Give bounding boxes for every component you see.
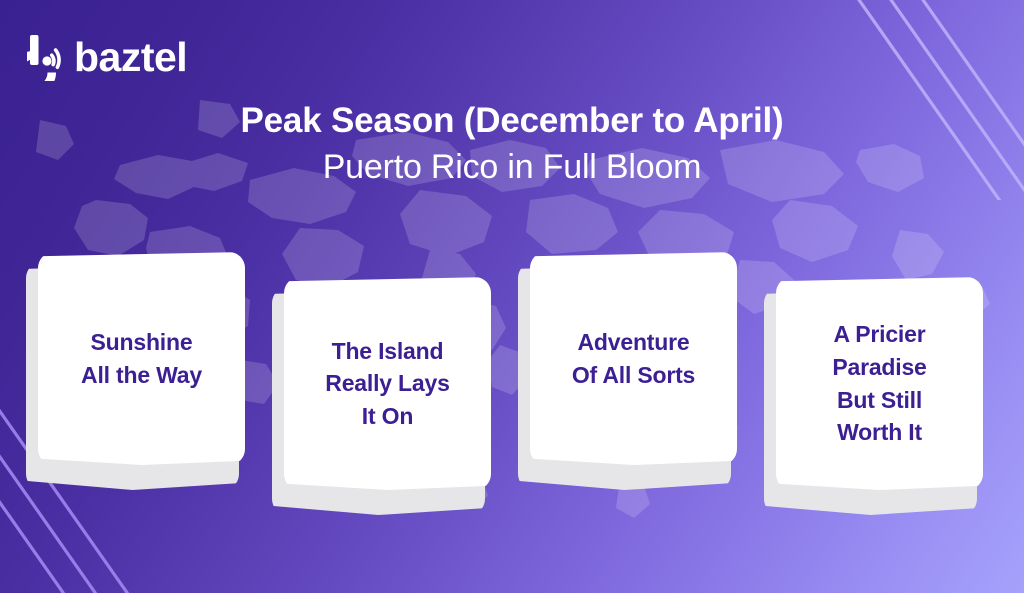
feature-card[interactable]: Adventure Of All Sorts — [518, 252, 731, 480]
infographic-canvas: baztel Peak Season (December to April) P… — [0, 0, 1024, 593]
card-front: A Pricier Paradise But Still Worth It — [776, 277, 983, 490]
card-label: Sunshine All the Way — [71, 326, 212, 391]
feature-card[interactable]: Sunshine All the Way — [26, 252, 239, 480]
feature-card[interactable]: A Pricier Paradise But Still Worth It — [764, 277, 977, 505]
card-label: Adventure Of All Sorts — [562, 326, 705, 391]
card-front: Sunshine All the Way — [38, 252, 245, 465]
feature-card[interactable]: The Island Really Lays It On — [272, 277, 485, 505]
card-label: The Island Really Lays It On — [315, 335, 459, 433]
card-front: Adventure Of All Sorts — [530, 252, 737, 465]
card-front: The Island Really Lays It On — [284, 277, 491, 490]
card-row: Sunshine All the Way The Island Really L… — [0, 0, 1024, 593]
card-label: A Pricier Paradise But Still Worth It — [822, 318, 936, 449]
